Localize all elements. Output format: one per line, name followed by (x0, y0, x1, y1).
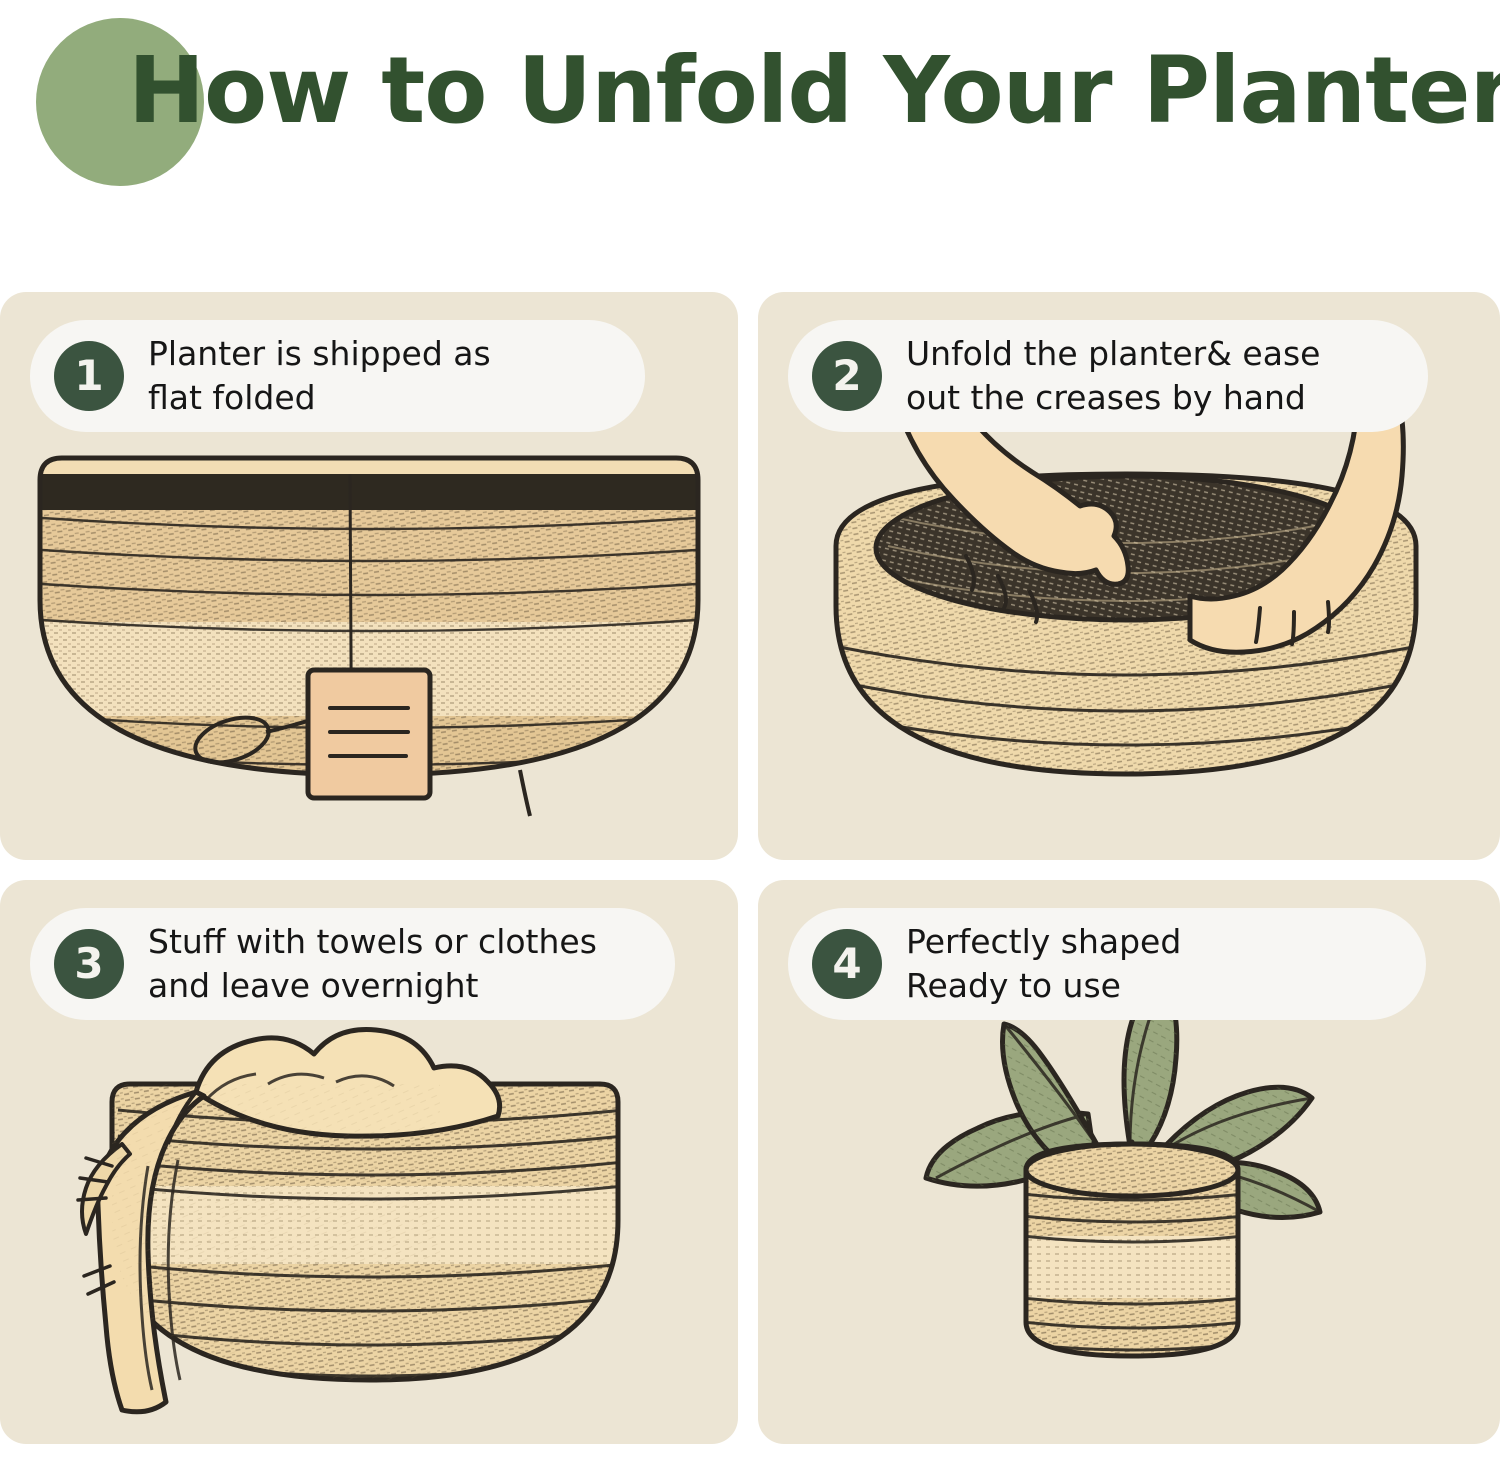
step-number-badge-3: 3 (54, 929, 124, 999)
steps-grid: 1 Planter is shipped as flat folded (0, 292, 1500, 1444)
page-header: How to Unfold Your Planter (0, 0, 1500, 290)
illustration-flat-folded-planter (0, 440, 738, 860)
step-panel-1: 1 Planter is shipped as flat folded (0, 292, 738, 860)
step-number-badge-2: 2 (812, 341, 882, 411)
illustration-hands-unfolding-basket (758, 396, 1500, 836)
illustration-basket-with-towel (0, 1014, 738, 1434)
step-text-1: Planter is shipped as flat folded (148, 332, 491, 420)
step-text-3: Stuff with towels or clothes and leave o… (148, 920, 597, 1008)
step-text-4: Perfectly shaped Ready to use (906, 920, 1181, 1008)
step-pill-1: 1 Planter is shipped as flat folded (30, 320, 645, 432)
step-pill-2: 2 Unfold the planter& ease out the creas… (788, 320, 1428, 432)
step-text-2: Unfold the planter& ease out the creases… (906, 332, 1320, 420)
step-panel-4: 4 Perfectly shaped Ready to use (758, 880, 1500, 1444)
illustration-potted-plant (758, 970, 1500, 1430)
step-pill-3: 3 Stuff with towels or clothes and leave… (30, 908, 675, 1020)
step-panel-3: 3 Stuff with towels or clothes and leave… (0, 880, 738, 1444)
step-number-badge-1: 1 (54, 341, 124, 411)
step-pill-4: 4 Perfectly shaped Ready to use (788, 908, 1426, 1020)
towel-icon (78, 1030, 500, 1412)
hang-tag-icon (308, 670, 430, 798)
page-title: How to Unfold Your Planter (128, 38, 1500, 144)
step-number-badge-4: 4 (812, 929, 882, 999)
step-panel-2: 2 Unfold the planter& ease out the creas… (758, 292, 1500, 860)
